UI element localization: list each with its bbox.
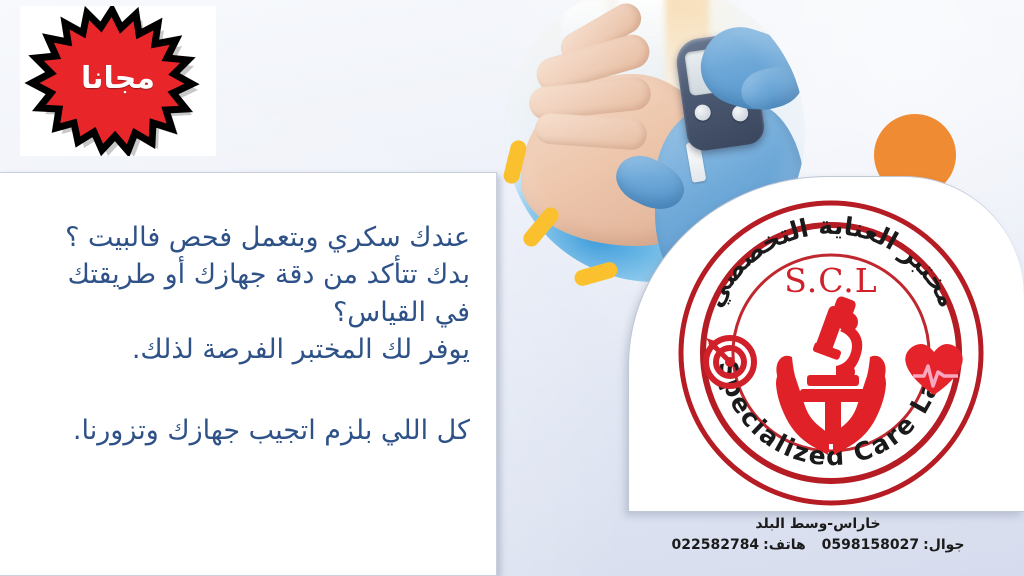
message-paragraph-3: يوفر لك المختبر الفرصة لذلك. <box>26 331 470 368</box>
message-text: عندك سكري وبتعمل فحص فالبيت ؟ بدك تتأكد … <box>0 173 496 449</box>
svg-text:S.C.L: S.C.L <box>784 261 877 300</box>
contact-phone-number: 022582784 <box>672 537 760 553</box>
target-icon <box>706 338 754 386</box>
contact-phone-label: هاتف: <box>763 537 806 553</box>
contact-block: خاراس-وسط البلد جوال:0598158027 هاتف:022… <box>620 516 1016 553</box>
contact-mobile: جوال:0598158027 <box>822 537 965 553</box>
contact-mobile-number: 0598158027 <box>822 537 919 553</box>
message-paragraph-2: بدك تتأكد من دقة جهازك أو طريقتك في القي… <box>26 256 470 331</box>
contact-address: خاراس-وسط البلد <box>620 516 1016 532</box>
company-logo: مختبر العناية التخصصي Specialized Care L… <box>672 194 990 512</box>
message-paragraph-4: كل اللي بلزم اتجيب جهازك وتزورنا. <box>26 412 470 449</box>
badge-label: مجانا <box>20 6 216 156</box>
poster-canvas: 98 مجانا <box>0 0 1024 576</box>
contact-mobile-label: جوال: <box>923 537 964 553</box>
message-paragraph-1: عندك سكري وبتعمل فحص فالبيت ؟ <box>26 219 470 256</box>
meter-button <box>694 104 712 122</box>
contact-numbers: جوال:0598158027 هاتف:022582784 <box>620 537 1016 553</box>
contact-phone: هاتف:022582784 <box>672 537 806 553</box>
paragraph-spacer <box>26 368 470 412</box>
message-panel: عندك سكري وبتعمل فحص فالبيت ؟ بدك تتأكد … <box>0 172 497 576</box>
